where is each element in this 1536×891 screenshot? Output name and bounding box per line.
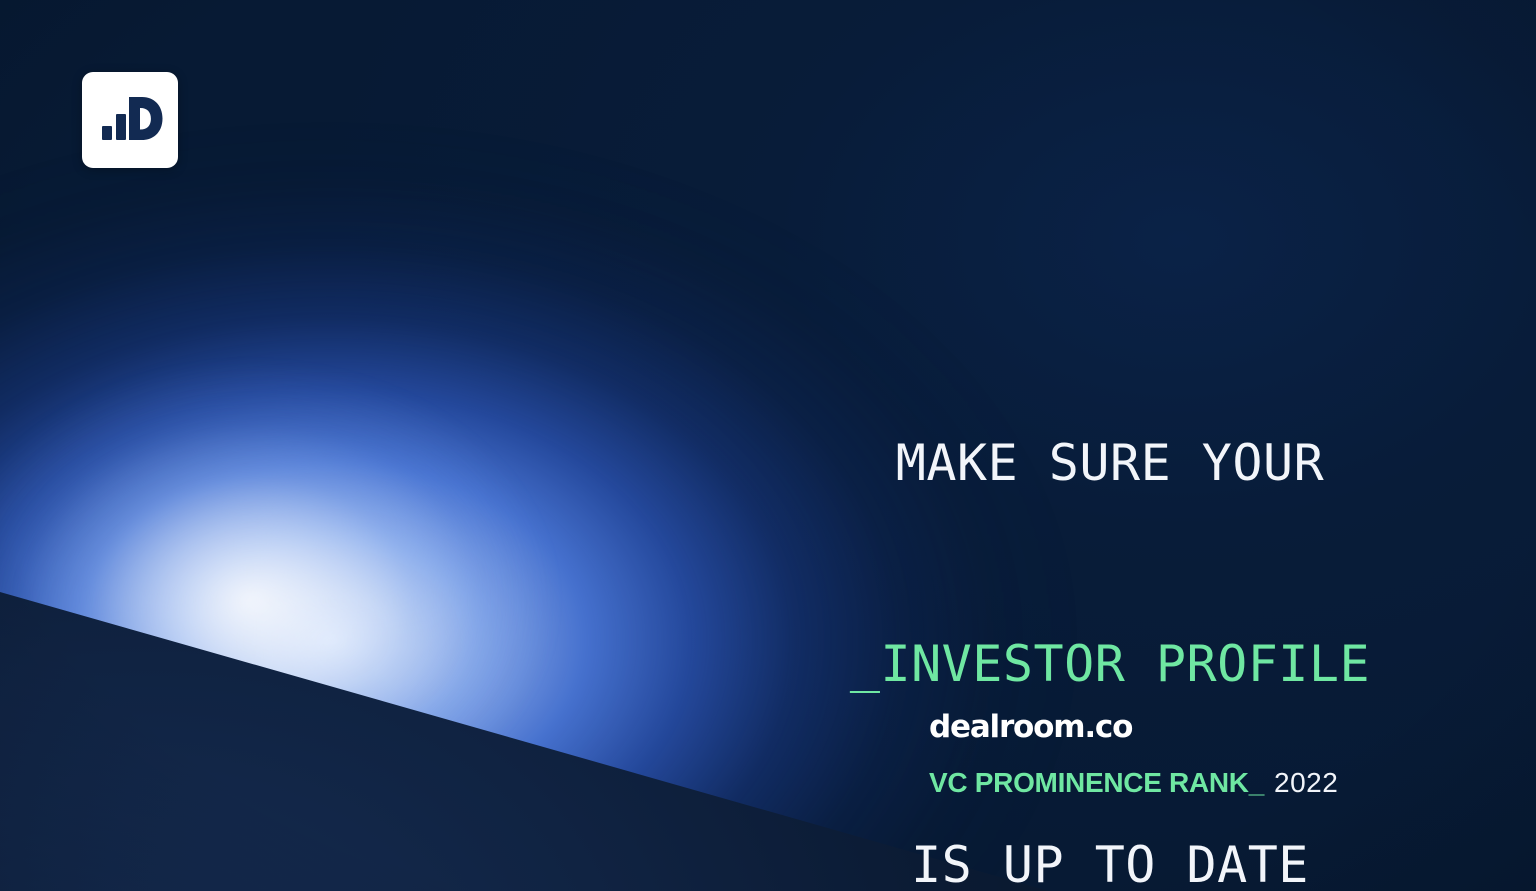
- page-title: MAKE SURE YOUR _INVESTOR PROFILE IS UP T…: [760, 296, 1460, 891]
- dealroom-bars-d-logo-icon: [82, 72, 178, 168]
- headline-line-2: _INVESTOR PROFILE: [760, 631, 1460, 698]
- report-subtitle: VC PROMINENCE RANK_2022: [929, 769, 1338, 797]
- report-year: 2022: [1274, 767, 1338, 798]
- report-name: VC PROMINENCE RANK_: [929, 767, 1264, 798]
- headline-line-3: IS UP TO DATE: [760, 832, 1460, 891]
- dealroom-wordmark: dealroom.co: [929, 712, 1338, 743]
- dealroom-logo[interactable]: [82, 72, 178, 168]
- brand-block: dealroom.co VC PROMINENCE RANK_2022: [929, 712, 1338, 797]
- headline-line-1: MAKE SURE YOUR: [760, 430, 1460, 497]
- presentation-slide: MAKE SURE YOUR _INVESTOR PROFILE IS UP T…: [0, 0, 1536, 891]
